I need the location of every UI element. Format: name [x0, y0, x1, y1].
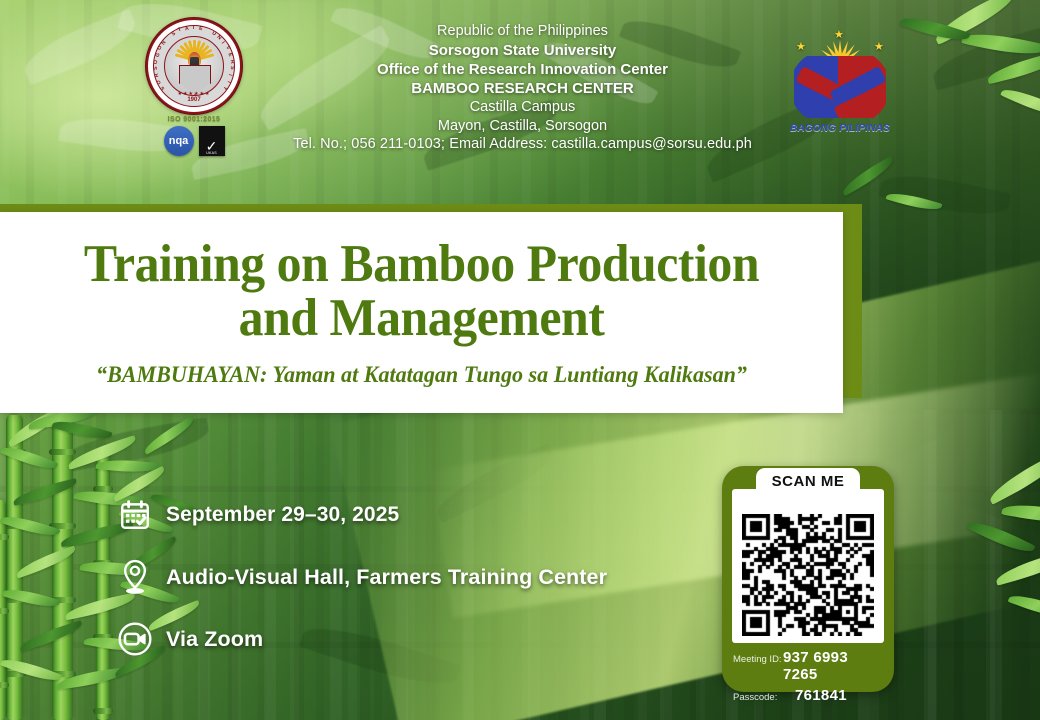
detail-row-venue: Audio-Visual Hall, Farmers Training Cent…	[104, 546, 704, 608]
poster-root: SORSOGON STATE UNIVERSITY ★★★★★★ 1907 IS…	[0, 0, 1040, 720]
qr-code-image[interactable]	[742, 514, 874, 636]
header-line-contact: Tel. No.; 056 211-0103; Email Address: c…	[250, 135, 795, 154]
bagong-pilipinas-chevrons	[794, 56, 886, 118]
detail-row-platform: Via Zoom	[104, 608, 704, 670]
header-line-center: BAMBOO RESEARCH CENTER	[250, 79, 795, 98]
nqa-badge-icon: nqa	[164, 126, 194, 156]
header-line-university: Sorsogon State University	[250, 41, 795, 60]
seal-year: 1907	[148, 97, 240, 103]
certification-badges: nqa ✓ UKAS	[146, 126, 242, 156]
event-subtitle: “BAMBUHAYAN: Yaman at Katatagan Tungo sa…	[17, 362, 826, 388]
header-line-republic: Republic of the Philippines	[250, 22, 795, 41]
qr-meeting-info: Meeting ID: 937 6993 7265 Passcode: 7618…	[733, 649, 885, 708]
detail-text-platform: Via Zoom	[166, 627, 263, 652]
header-line-office: Office of the Research Innovation Center	[250, 60, 795, 79]
event-title: Training on Bamboo Production and Manage…	[25, 237, 817, 345]
title-panel: Training on Bamboo Production and Manage…	[0, 212, 843, 413]
sorsogon-state-university-seal: SORSOGON STATE UNIVERSITY ★★★★★★ 1907	[146, 18, 242, 114]
header-line-campus: Castilla Campus	[250, 98, 795, 117]
ukas-badge-icon: ✓ UKAS	[199, 126, 225, 156]
qr-meeting-id-row: Meeting ID: 937 6993 7265	[733, 649, 885, 683]
header-line-address: Mayon, Castilla, Sorsogon	[250, 117, 795, 136]
qr-passcode-label: Passcode:	[733, 692, 783, 703]
detail-text-date: September 29–30, 2025	[166, 503, 399, 527]
qr-code-card[interactable]: SCAN ME Meeting ID: 937 6993 7265 Passco…	[722, 466, 894, 692]
iso-certification-text: ISO 9001:2015	[146, 116, 242, 123]
qr-meeting-id-label: Meeting ID:	[733, 654, 783, 665]
event-title-line-1: Training on Bamboo Production	[50, 237, 794, 291]
qr-passcode-value: 761841	[795, 687, 847, 704]
qr-passcode-row: Passcode: 761841	[733, 687, 885, 704]
bagong-pilipinas-label: BAGONG PILIPINAS	[788, 123, 892, 134]
event-details-list: September 29–30, 2025 Audio-Visual Hall,…	[104, 484, 704, 670]
calendar-icon	[104, 498, 166, 532]
detail-text-venue: Audio-Visual Hall, Farmers Training Cent…	[166, 565, 607, 590]
detail-row-date: September 29–30, 2025	[104, 484, 704, 546]
bagong-pilipinas-logo: ★★★ BAGONG PILIPINAS	[788, 26, 892, 136]
qr-meeting-id-value: 937 6993 7265	[783, 649, 885, 683]
location-pin-icon	[104, 558, 166, 596]
scan-me-label: SCAN ME	[756, 468, 860, 494]
event-title-line-2: and Management	[50, 291, 794, 345]
institution-header: Republic of the Philippines Sorsogon Sta…	[250, 22, 795, 154]
video-camera-icon	[104, 621, 166, 657]
